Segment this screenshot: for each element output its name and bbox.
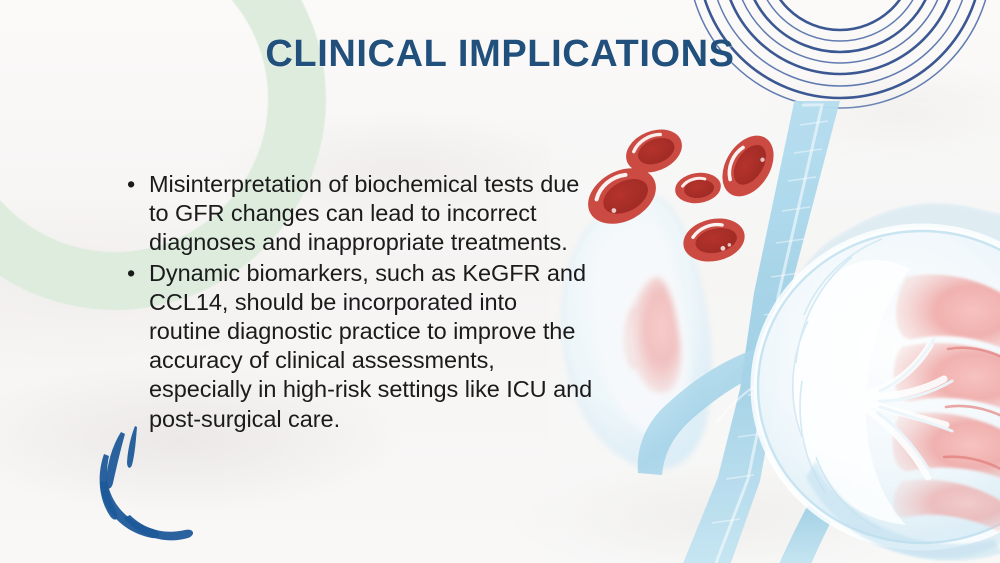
page-title: CLINICAL IMPLICATIONS [0,31,1000,77]
bullet-text: Misinterpretation of biochemical tests d… [149,171,579,255]
list-item: • Dynamic biomarkers, such as KeGFR and … [124,259,594,434]
bullet-text: Dynamic biomarkers, such as KeGFR and CC… [149,260,592,432]
bullet-marker: • [127,170,135,199]
bullet-marker: • [127,259,135,288]
slide-canvas: CLINICAL IMPLICATIONS • Misinterpretatio… [0,0,1000,563]
list-item: • Misinterpretation of biochemical tests… [124,170,594,258]
feather-swoosh-decoration [88,418,228,558]
bullet-list: • Misinterpretation of biochemical tests… [124,170,594,434]
red-blood-cells [596,118,786,276]
